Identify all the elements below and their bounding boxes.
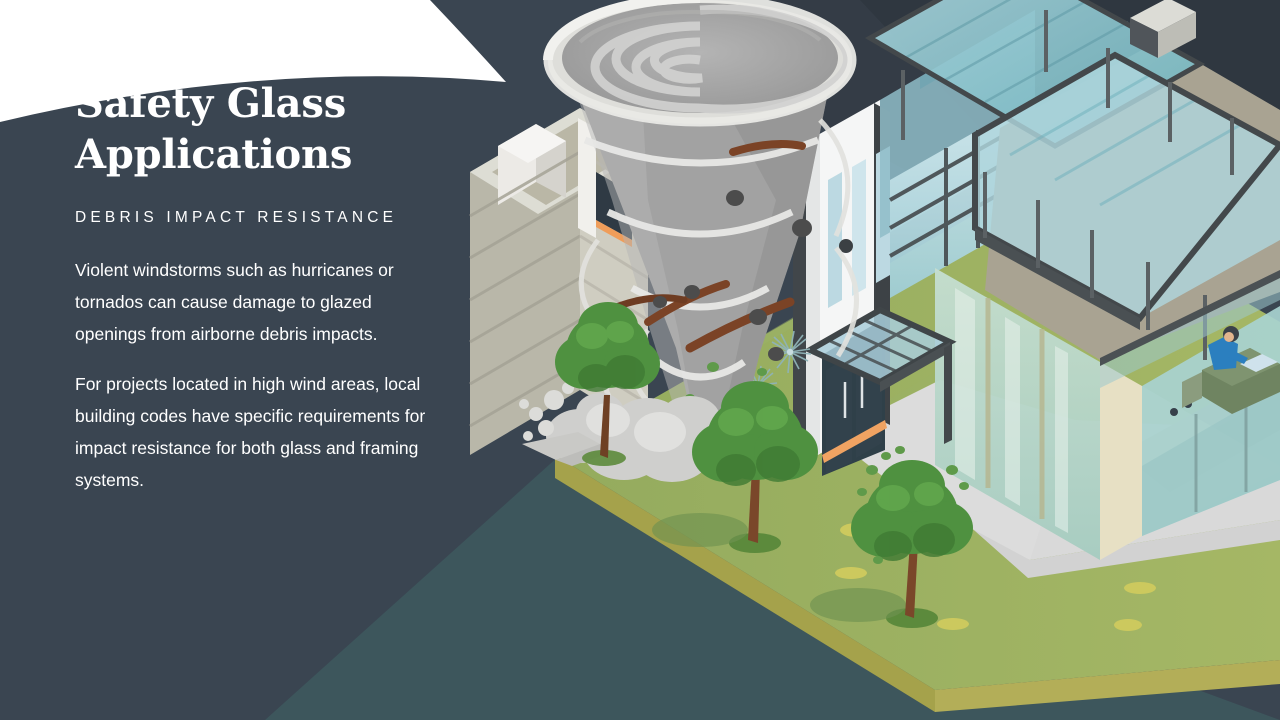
tornado-spiral-top bbox=[548, 0, 852, 124]
grass-patch bbox=[835, 567, 867, 579]
page-title: Safety Glass Applications bbox=[75, 78, 445, 180]
grass-patch bbox=[1124, 582, 1156, 594]
body-paragraph-1: Violent windstorms such as hurricanes or… bbox=[75, 254, 435, 350]
page-title-line-2: Applications bbox=[75, 131, 352, 178]
person-face bbox=[1224, 332, 1234, 342]
slide-root: Safety Glass Applications DEBRIS IMPACT … bbox=[0, 0, 1280, 720]
body-paragraph-2: For projects located in high wind areas,… bbox=[75, 368, 435, 496]
canopy-post bbox=[944, 344, 952, 444]
text-column: Safety Glass Applications DEBRIS IMPACT … bbox=[75, 78, 445, 496]
grass-patch bbox=[1114, 619, 1142, 631]
room-fixture bbox=[1170, 408, 1178, 416]
grass-patch bbox=[937, 618, 969, 630]
subtitle: DEBRIS IMPACT RESISTANCE bbox=[75, 208, 445, 228]
page-title-line-1: Safety Glass bbox=[75, 80, 346, 127]
tan-wall-strip bbox=[1100, 362, 1142, 560]
